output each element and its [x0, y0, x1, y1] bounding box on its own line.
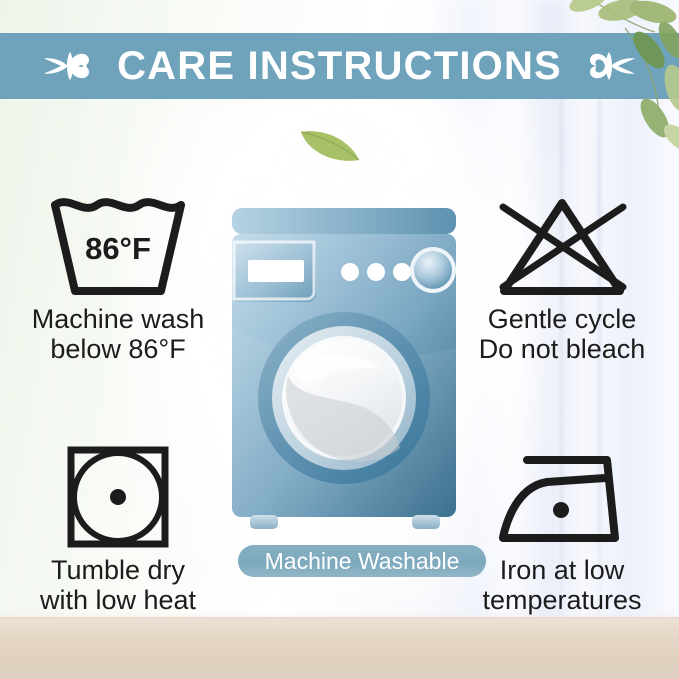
- control-dots: [341, 263, 411, 281]
- table-grain: [0, 617, 679, 679]
- machine-washable-badge: Machine Washable: [238, 545, 486, 577]
- detergent-drawer: [234, 242, 316, 302]
- iron-icon: [452, 443, 672, 551]
- washer-door: [258, 312, 430, 484]
- care-symbol-tumble-dry: Tumble dry with low heat: [8, 443, 228, 615]
- floating-leaf-decoration: [297, 124, 363, 166]
- control-knob: [410, 247, 456, 293]
- care-symbol-machine-wash: 86°F Machine wash below 86°F: [8, 192, 228, 364]
- header-banner: CARE INSTRUCTIONS: [0, 33, 679, 99]
- fleur-de-lis-icon: [578, 42, 640, 90]
- badge-label: Machine Washable: [265, 550, 460, 573]
- care-symbol-caption: Tumble dry with low heat: [8, 555, 228, 615]
- wash-temperature-value: 86°F: [85, 231, 151, 266]
- care-instructions-infographic: CARE INSTRUCTIONS: [0, 0, 679, 679]
- page-title: CARE INSTRUCTIONS: [117, 46, 562, 86]
- triangle-crossed-icon: [452, 192, 672, 300]
- fleur-de-lis-icon: [39, 42, 101, 90]
- tumble-dry-square-icon: [8, 443, 228, 551]
- washing-machine-illustration: [228, 208, 460, 538]
- washer-feet: [250, 515, 440, 529]
- care-symbol-caption: Machine wash below 86°F: [8, 304, 228, 364]
- care-symbol-do-not-bleach: Gentle cycle Do not bleach: [452, 192, 672, 364]
- washer-lid: [232, 208, 456, 234]
- care-symbol-iron: Iron at low temperatures: [452, 443, 672, 615]
- wash-tub-icon: 86°F: [8, 192, 228, 300]
- care-symbol-caption: Gentle cycle Do not bleach: [452, 304, 672, 364]
